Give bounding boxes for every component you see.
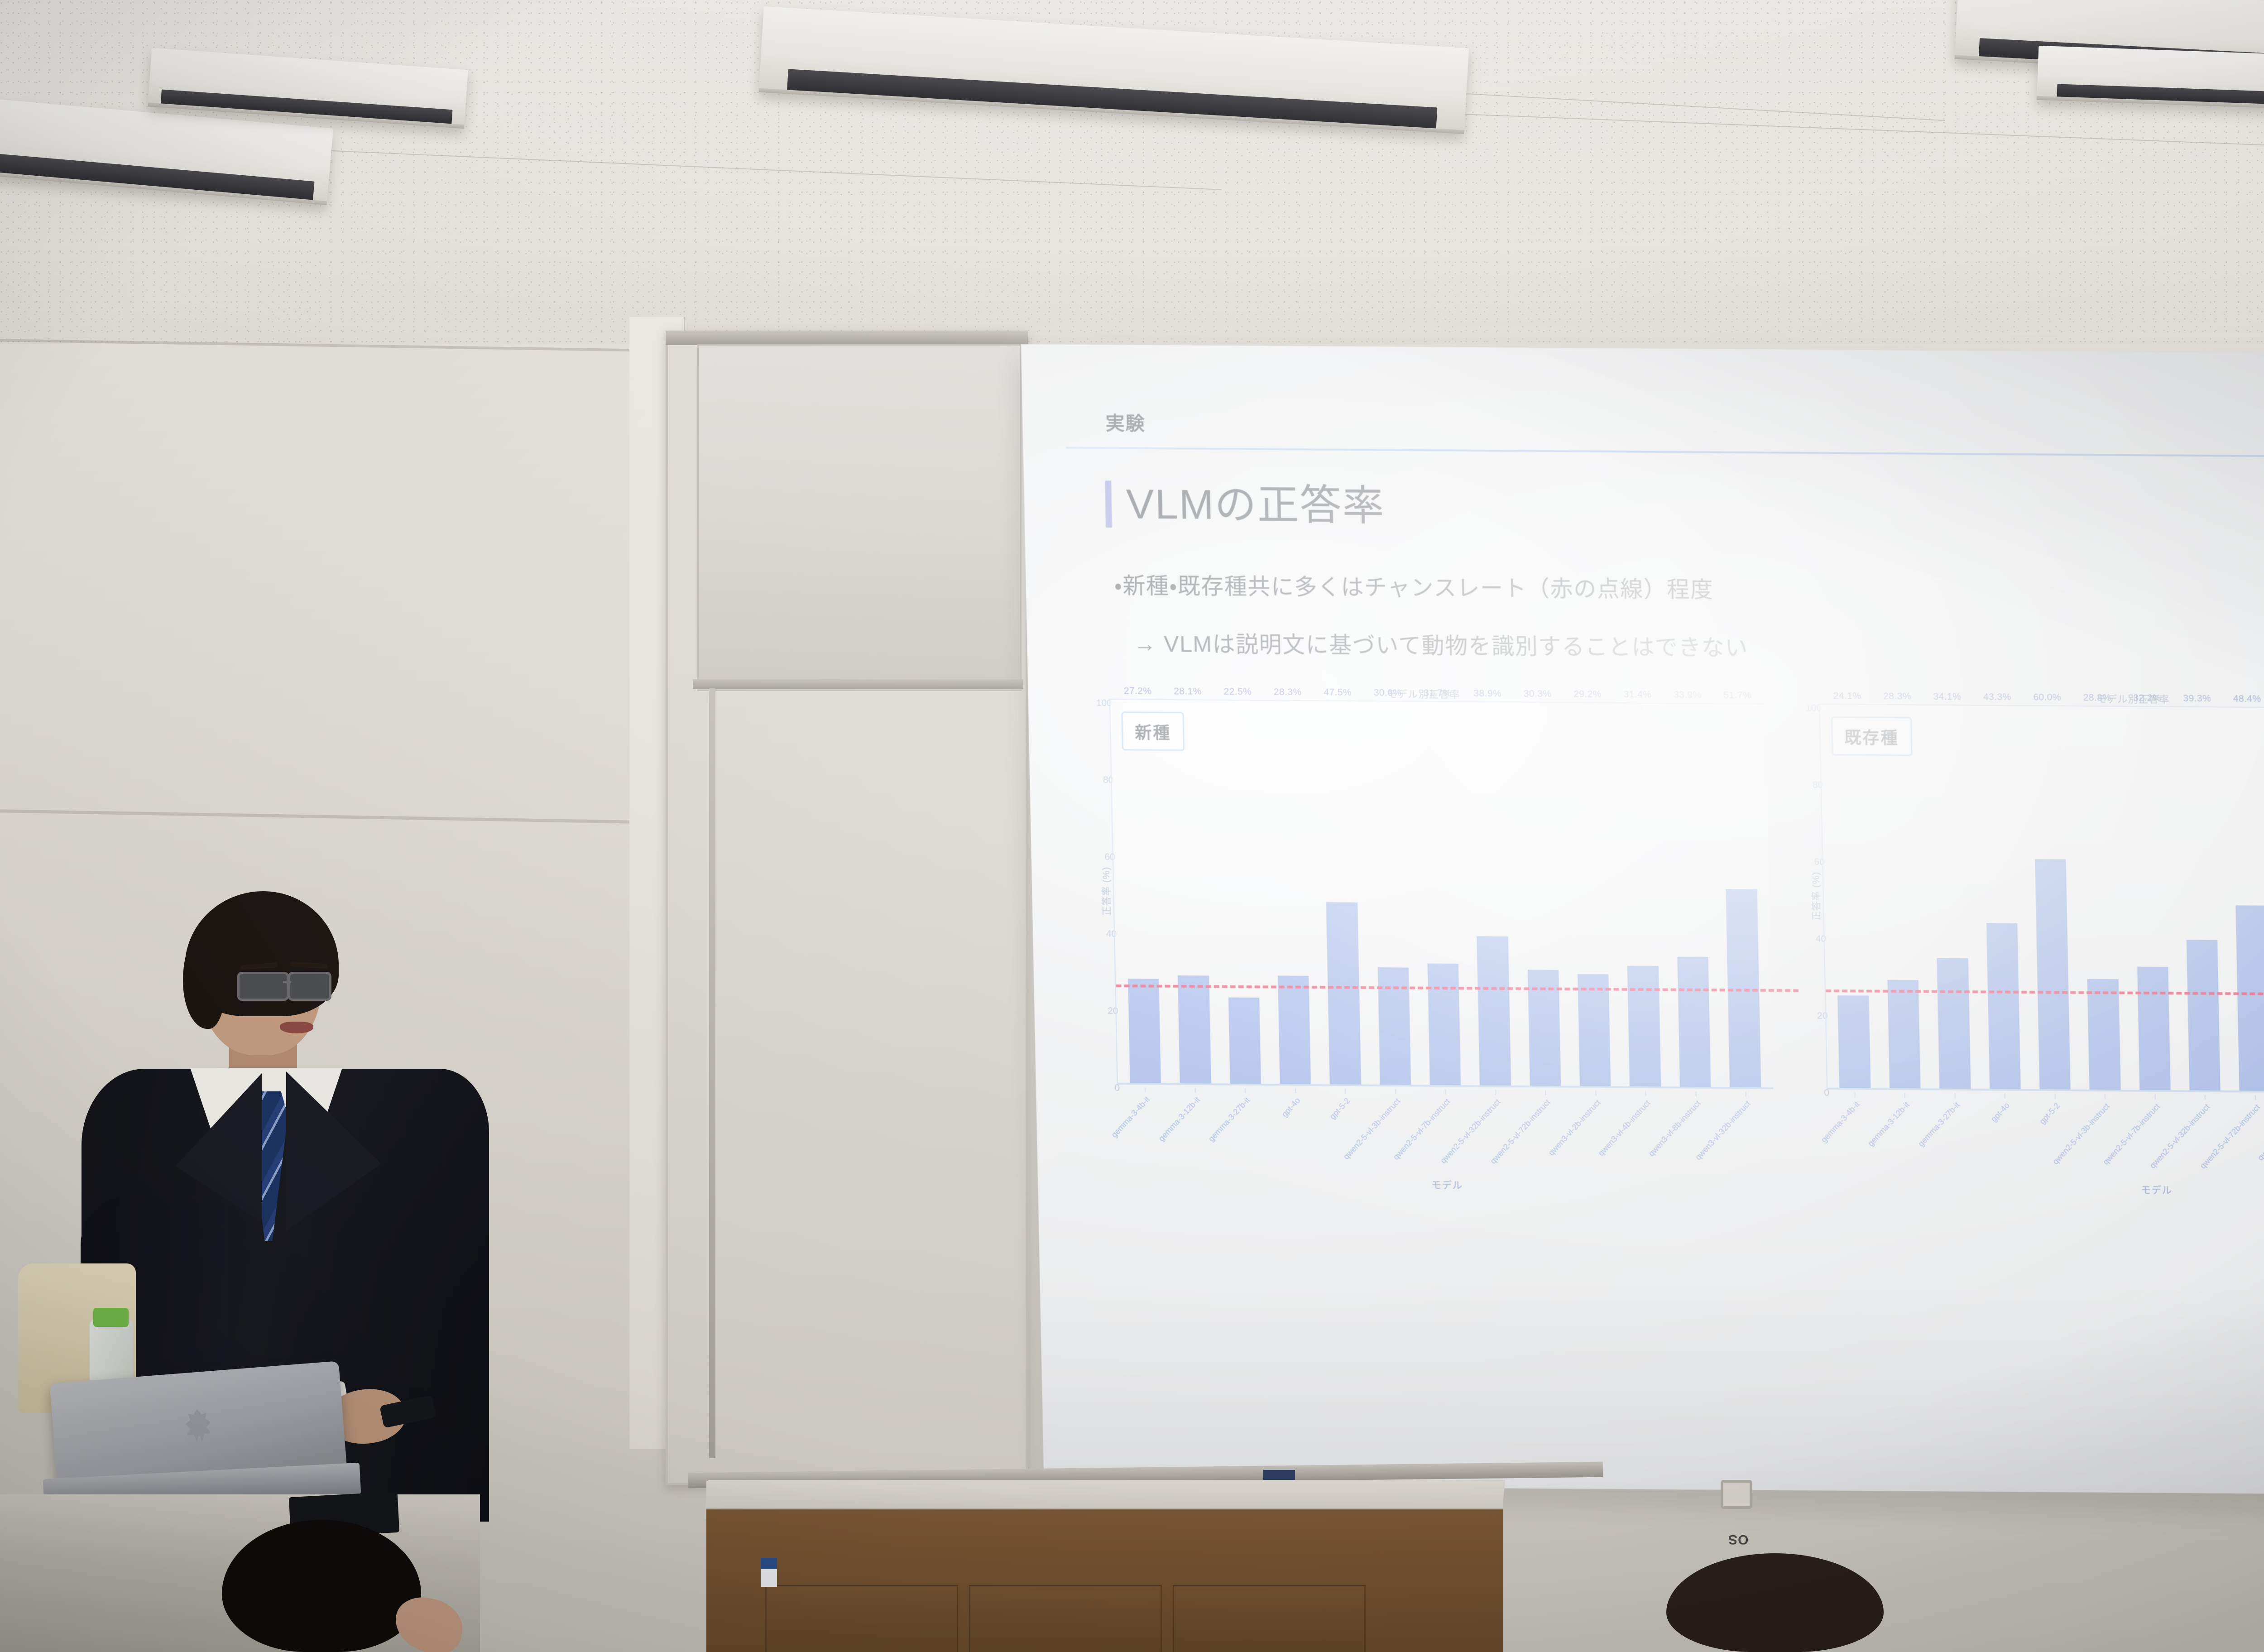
- whiteboard-track: [709, 688, 715, 1458]
- eyeglasses-lens-left: [237, 972, 289, 1001]
- bar-slot: 28.3%: [1872, 705, 1930, 1089]
- eyeglasses-bridge: [283, 981, 291, 983]
- chart-panel-existing-species: モデル別正答率 正答率 (%) 0 20 40 60 80 100 既存種 24…: [1789, 694, 2264, 1201]
- bar-slot: 47.5%: [1313, 701, 1370, 1085]
- bar: 31.7%: [1428, 964, 1461, 1085]
- bar-slot: 33.9%: [1663, 704, 1720, 1087]
- bar: 29.2%: [1578, 974, 1611, 1086]
- bar-value-label: 60.0%: [2033, 692, 2061, 703]
- bar: 38.9%: [1477, 936, 1511, 1085]
- whiteboard-panel: [697, 344, 1022, 691]
- bar: 28.1%: [1178, 975, 1211, 1083]
- bar: 24.1%: [1838, 995, 1871, 1088]
- bar-value-label: 39.3%: [2183, 693, 2211, 704]
- bar-value-label: 32.2%: [2133, 693, 2161, 704]
- x-axis-ticks: gemma-3-4b-itgemma-3-12b-itgemma-3-27b-i…: [1827, 1092, 2264, 1187]
- x-tick-label: gemma-3-4b-it: [1819, 1100, 1861, 1144]
- lectern-door-panel: [1173, 1585, 1366, 1652]
- x-tick-label: gpt-5-2: [1328, 1096, 1353, 1121]
- bar: 60.0%: [2035, 860, 2071, 1090]
- chart-panel-new-species: モデル別正答率 正答率 (%) 0 20 40 60 80 100 新種 27.…: [1079, 689, 1778, 1196]
- bar-value-label: 28.8%: [2083, 692, 2111, 703]
- bar-value-label: 28.1%: [1174, 686, 1202, 697]
- slide-title-row: VLMの正答率: [1105, 480, 1385, 529]
- slide-section-label: 実験: [1105, 408, 1146, 436]
- bar-value-label: 24.1%: [1833, 691, 1861, 701]
- bar: 34.1%: [1937, 958, 1971, 1089]
- bar-slot: 31.7%: [1413, 702, 1470, 1085]
- bar-value-label: 38.9%: [1473, 688, 1501, 699]
- bar: 30.6%: [1377, 967, 1411, 1085]
- slide-bullet-2: → VLMは説明文に基づいて動物を識別することはできない: [1133, 626, 1749, 663]
- lectern-label-tag: [761, 1558, 777, 1587]
- bar: 28.3%: [1278, 975, 1311, 1084]
- mouth: [280, 1022, 313, 1033]
- bar-slot: 32.2%: [2122, 707, 2180, 1090]
- bar: 47.5%: [1326, 902, 1361, 1084]
- x-tick-label: gpt-4o: [1989, 1101, 2012, 1124]
- bar-value-label: 34.1%: [1933, 692, 1961, 702]
- x-tick: gemma-3-27b-it: [1220, 1088, 1272, 1179]
- bar-value-label: 31.4%: [1623, 689, 1651, 700]
- lectern-door-panel: [765, 1585, 958, 1652]
- x-tick-label: gemma-3-4b-it: [1109, 1095, 1152, 1139]
- bar-value-label: 28.3%: [1883, 691, 1911, 702]
- bar-slot: 27.2%: [1113, 700, 1170, 1083]
- bar-value-label: 27.2%: [1124, 686, 1152, 696]
- slide-header-divider: [1066, 447, 2264, 459]
- bar-value-label: 47.5%: [1324, 687, 1352, 698]
- bar-value-label: 33.9%: [1674, 690, 1702, 701]
- bar-series: 24.1%28.3%34.1%43.3%60.0%28.8%32.2%39.3%…: [1820, 705, 2264, 1092]
- lectern-door-panel: [969, 1585, 1162, 1652]
- bar-series: 27.2%28.1%22.5%28.3%47.5%30.6%31.7%38.9%…: [1110, 700, 1773, 1087]
- charts-container: モデル別正答率 正答率 (%) 0 20 40 60 80 100 新種 27.…: [1079, 689, 2264, 1201]
- bar-slot: 39.3%: [2173, 707, 2230, 1090]
- bar-slot: 24.1%: [1823, 705, 1880, 1088]
- x-tick-label: gpt-4o: [1280, 1096, 1302, 1119]
- bar-slot: 28.1%: [1163, 700, 1220, 1084]
- bar: 28.3%: [1887, 980, 1920, 1088]
- bar: 32.2%: [2137, 966, 2171, 1090]
- y-axis-label: 正答率 (%): [1808, 871, 1823, 921]
- bar-slot: 30.6%: [1363, 701, 1420, 1085]
- bar: 43.3%: [1986, 923, 2021, 1089]
- bar-value-label: 30.6%: [1373, 687, 1401, 698]
- bar-value-label: 43.3%: [1983, 692, 2011, 703]
- bar-value-label: 31.7%: [1424, 688, 1452, 699]
- bar-slot: 43.3%: [1972, 706, 2030, 1089]
- bar-slot: 28.8%: [2072, 706, 2130, 1090]
- plot-area: 既存種 24.1%28.3%34.1%43.3%60.0%28.8%32.2%3…: [1819, 704, 2264, 1093]
- bar: 48.4%: [2236, 905, 2264, 1091]
- bar-value-label: 51.7%: [1723, 690, 1751, 701]
- bar-slot: 31.4%: [1613, 703, 1670, 1087]
- bar: 51.7%: [1726, 889, 1761, 1087]
- bar-value-label: 30.3%: [1524, 688, 1552, 699]
- x-tick: qwen3-vl-32b-instruct: [1720, 1091, 1772, 1182]
- presentation-photo-scene: 19 実験 VLMの正答率 ・新種・既存種共に多くはチャンスレート（赤の点線）程…: [0, 0, 2264, 1652]
- apple-logo-icon: [180, 1408, 217, 1450]
- bar-slot: 34.1%: [1923, 706, 1980, 1089]
- projection-screen: 19 実験 VLMの正答率 ・新種・既存種共に多くはチャンスレート（赤の点線）程…: [1021, 344, 2264, 1495]
- bar-slot: 30.3%: [1513, 702, 1570, 1086]
- x-tick: qwen2-5-vl-72b-instruct: [2230, 1095, 2264, 1186]
- bar-value-label: 22.5%: [1223, 687, 1252, 697]
- x-tick: gemma-3-27b-it: [1929, 1093, 1981, 1184]
- slide-title: VLMの正答率: [1126, 484, 1385, 527]
- bar-slot: 28.3%: [1263, 701, 1320, 1084]
- x-tick-label: gpt-5-2: [2038, 1101, 2062, 1126]
- bar: 33.9%: [1677, 957, 1711, 1087]
- bar-slot: 22.5%: [1213, 701, 1271, 1084]
- bar-slot: 51.7%: [1712, 704, 1770, 1087]
- bar-slot: 29.2%: [1563, 703, 1620, 1086]
- slide-content: 19 実験 VLMの正答率 ・新種・既存種共に多くはチャンスレート（赤の点線）程…: [1065, 372, 2264, 1434]
- whiteboard-rail-mid: [693, 679, 1023, 689]
- bar: 28.8%: [2087, 979, 2120, 1090]
- bar-value-label: 29.2%: [1573, 689, 1602, 700]
- x-tick: gpt-4o: [1270, 1088, 1322, 1179]
- x-tick: gpt-4o: [1980, 1093, 2032, 1184]
- bar-slot: 38.9%: [1463, 702, 1520, 1086]
- bar: 31.4%: [1627, 966, 1661, 1086]
- bar-slot: 48.4%: [2222, 707, 2264, 1091]
- title-accent-bar: [1105, 480, 1112, 528]
- plot-area: 新種 27.2%28.1%22.5%28.3%47.5%30.6%31.7%38…: [1109, 699, 1773, 1088]
- hair-side: [183, 933, 226, 1029]
- os-marking: OS: [1728, 1532, 1748, 1547]
- y-axis-label: 正答率 (%): [1098, 867, 1113, 916]
- bar-slot: 60.0%: [2022, 706, 2080, 1090]
- bar: 22.5%: [1228, 997, 1261, 1084]
- rail-knob[interactable]: [1721, 1480, 1752, 1509]
- bar-value-label: 48.4%: [2233, 693, 2261, 704]
- eyeglasses-lens-right: [288, 972, 331, 1001]
- whiteboard-rail: [666, 333, 1028, 345]
- x-axis-ticks: gemma-3-4b-itgemma-3-12b-itgemma-3-27b-i…: [1117, 1087, 1775, 1182]
- bottle-cap: [93, 1308, 129, 1327]
- bar-value-label: 28.3%: [1274, 687, 1302, 698]
- slide-bullet-1: ・新種・既存種共に多くはチャンスレート（赤の点線）程度: [1114, 567, 1714, 604]
- x-axis-label: モデル: [1828, 1180, 2264, 1199]
- bar: 27.2%: [1128, 979, 1161, 1083]
- bar: 39.3%: [2187, 940, 2221, 1090]
